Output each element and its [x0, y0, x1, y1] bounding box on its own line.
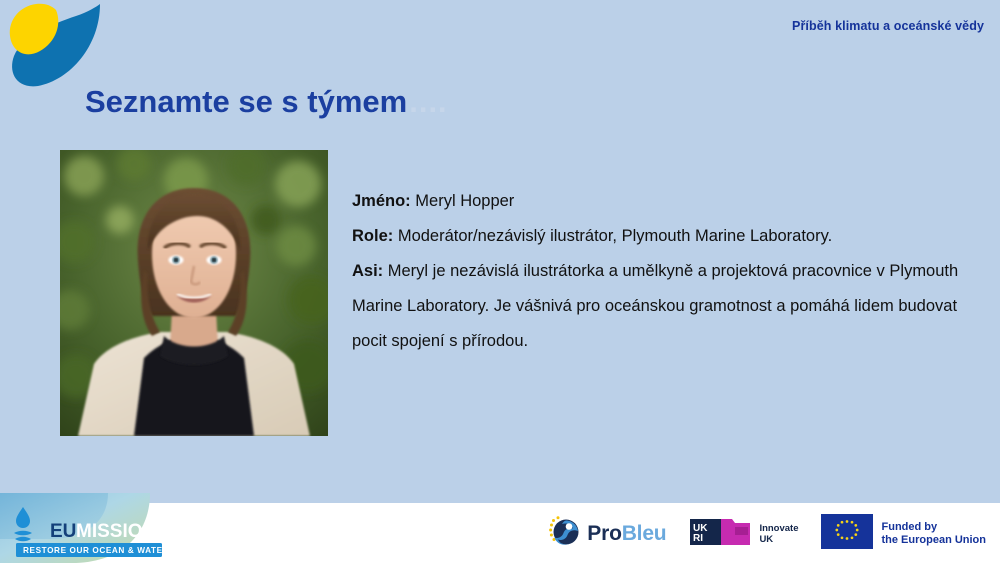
bio-about-line: Asi: Meryl je nezávislá ilustrátorka a u… — [352, 254, 962, 359]
eu-funding-logo: Funded by the European Union — [821, 514, 987, 554]
portrait-photo — [60, 150, 328, 436]
bio-about-value: Meryl je nezávislá ilustrátorka a umělky… — [352, 262, 958, 350]
footer-logo-row: ProBleu UK RI Innovate UK — [547, 514, 986, 554]
eu-missions-logo: EU MISSIONS RESTORE OUR OCEAN & WATERS — [0, 493, 196, 563]
bio-role-value: Moderátor/nezávislý ilustrátor, Plymouth… — [393, 227, 832, 245]
page-title: Seznamte se s týmem — [85, 86, 407, 117]
ukri-icon: UK RI — [688, 515, 752, 554]
svg-text:EU: EU — [50, 521, 76, 542]
header-eyebrow: Příběh klimatu a oceánské vědy — [792, 19, 984, 33]
svg-text:RESTORE OUR OCEAN & WATERS: RESTORE OUR OCEAN & WATERS — [23, 546, 175, 555]
probleu-icon — [547, 515, 581, 554]
page-title-wrapper: Seznamte se s týmem .... — [85, 86, 448, 117]
innovate-uk-logo: UK RI Innovate UK — [688, 515, 798, 554]
eu-funding-line2: the European Union — [882, 534, 987, 548]
bio-role-label: Role: — [352, 227, 393, 245]
slide-canvas: Příběh klimatu a oceánské vědy Seznamte … — [0, 0, 1000, 563]
bio-text-block: Jméno: Meryl Hopper Role: Moderátor/nezá… — [352, 184, 972, 359]
probleu-pro: Pro — [587, 522, 621, 545]
innovate-uk-wordmark: Innovate UK — [759, 523, 798, 546]
eu-flag-icon — [821, 514, 873, 554]
svg-text:MISSIONS: MISSIONS — [76, 521, 169, 542]
svg-text:RI: RI — [693, 533, 703, 544]
probleu-wordmark: ProBleu — [587, 522, 666, 546]
bio-name-line: Jméno: Meryl Hopper — [352, 184, 972, 219]
eu-funding-line1: Funded by — [882, 521, 987, 535]
bio-role-line: Role: Moderátor/nezávislý ilustrátor, Pl… — [352, 219, 972, 254]
bio-name-label: Jméno: — [352, 192, 411, 210]
bio-about-label: Asi: — [352, 262, 383, 280]
probleu-bleu: Bleu — [622, 522, 667, 545]
innovate-uk-line1: Innovate — [759, 523, 798, 535]
eu-funding-wordmark: Funded by the European Union — [882, 521, 987, 548]
probleu-logo: ProBleu — [547, 515, 666, 554]
title-ellipsis: .... — [409, 86, 447, 117]
bio-name-value: Meryl Hopper — [411, 192, 515, 210]
innovate-uk-line2: UK — [759, 534, 798, 546]
